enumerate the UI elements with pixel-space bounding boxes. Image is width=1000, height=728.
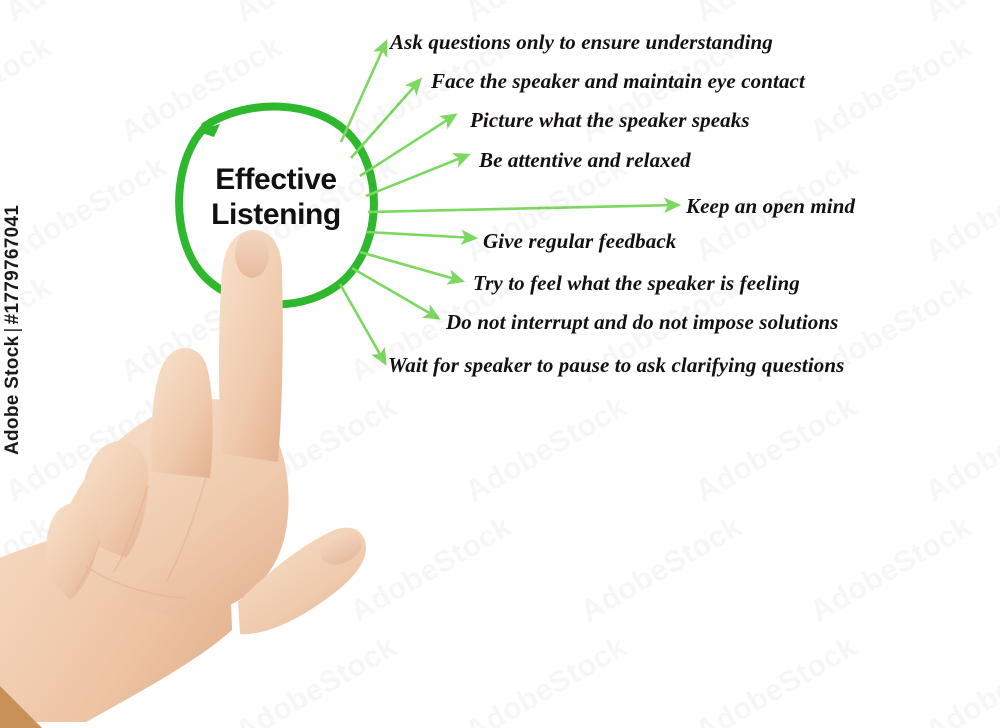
arrow-5 — [368, 205, 678, 212]
arrow-8 — [352, 268, 438, 318]
arrow-6 — [366, 232, 475, 238]
branch-label-7: Try to feel what the speaker is feeling — [473, 271, 800, 296]
branch-label-5: Keep an open mind — [686, 194, 855, 219]
branch-label-8: Do not interrupt and do not impose solut… — [446, 310, 838, 335]
branch-label-3: Picture what the speaker speaks — [470, 108, 750, 133]
branch-label-1: Ask questions only to ensure understandi… — [390, 30, 773, 55]
branch-label-6: Give regular feedback — [483, 229, 676, 254]
center-line-1: Effective — [186, 162, 366, 197]
credit-asset-id: #1779767041 — [2, 205, 23, 325]
credit-separator: | — [2, 324, 23, 335]
arrow-9 — [340, 284, 385, 363]
branch-label-9: Wait for speaker to pause to ask clarify… — [388, 353, 844, 378]
adobe-stock-credit: Adobe Stock|#1779767041 — [2, 205, 24, 455]
page-title: Effective Listening — [186, 162, 366, 233]
center-line-2: Listening — [186, 197, 366, 232]
corner-fold — [0, 686, 42, 728]
branch-label-2: Face the speaker and maintain eye contac… — [431, 69, 805, 94]
stock-photo-canvas: AdobeStockAdobeStockAdobeStockAdobeStock… — [0, 0, 1000, 728]
arrow-7 — [360, 252, 462, 281]
branch-label-4: Be attentive and relaxed — [479, 148, 691, 173]
arrow-2 — [351, 80, 420, 158]
credit-brand: Adobe Stock — [2, 336, 23, 455]
